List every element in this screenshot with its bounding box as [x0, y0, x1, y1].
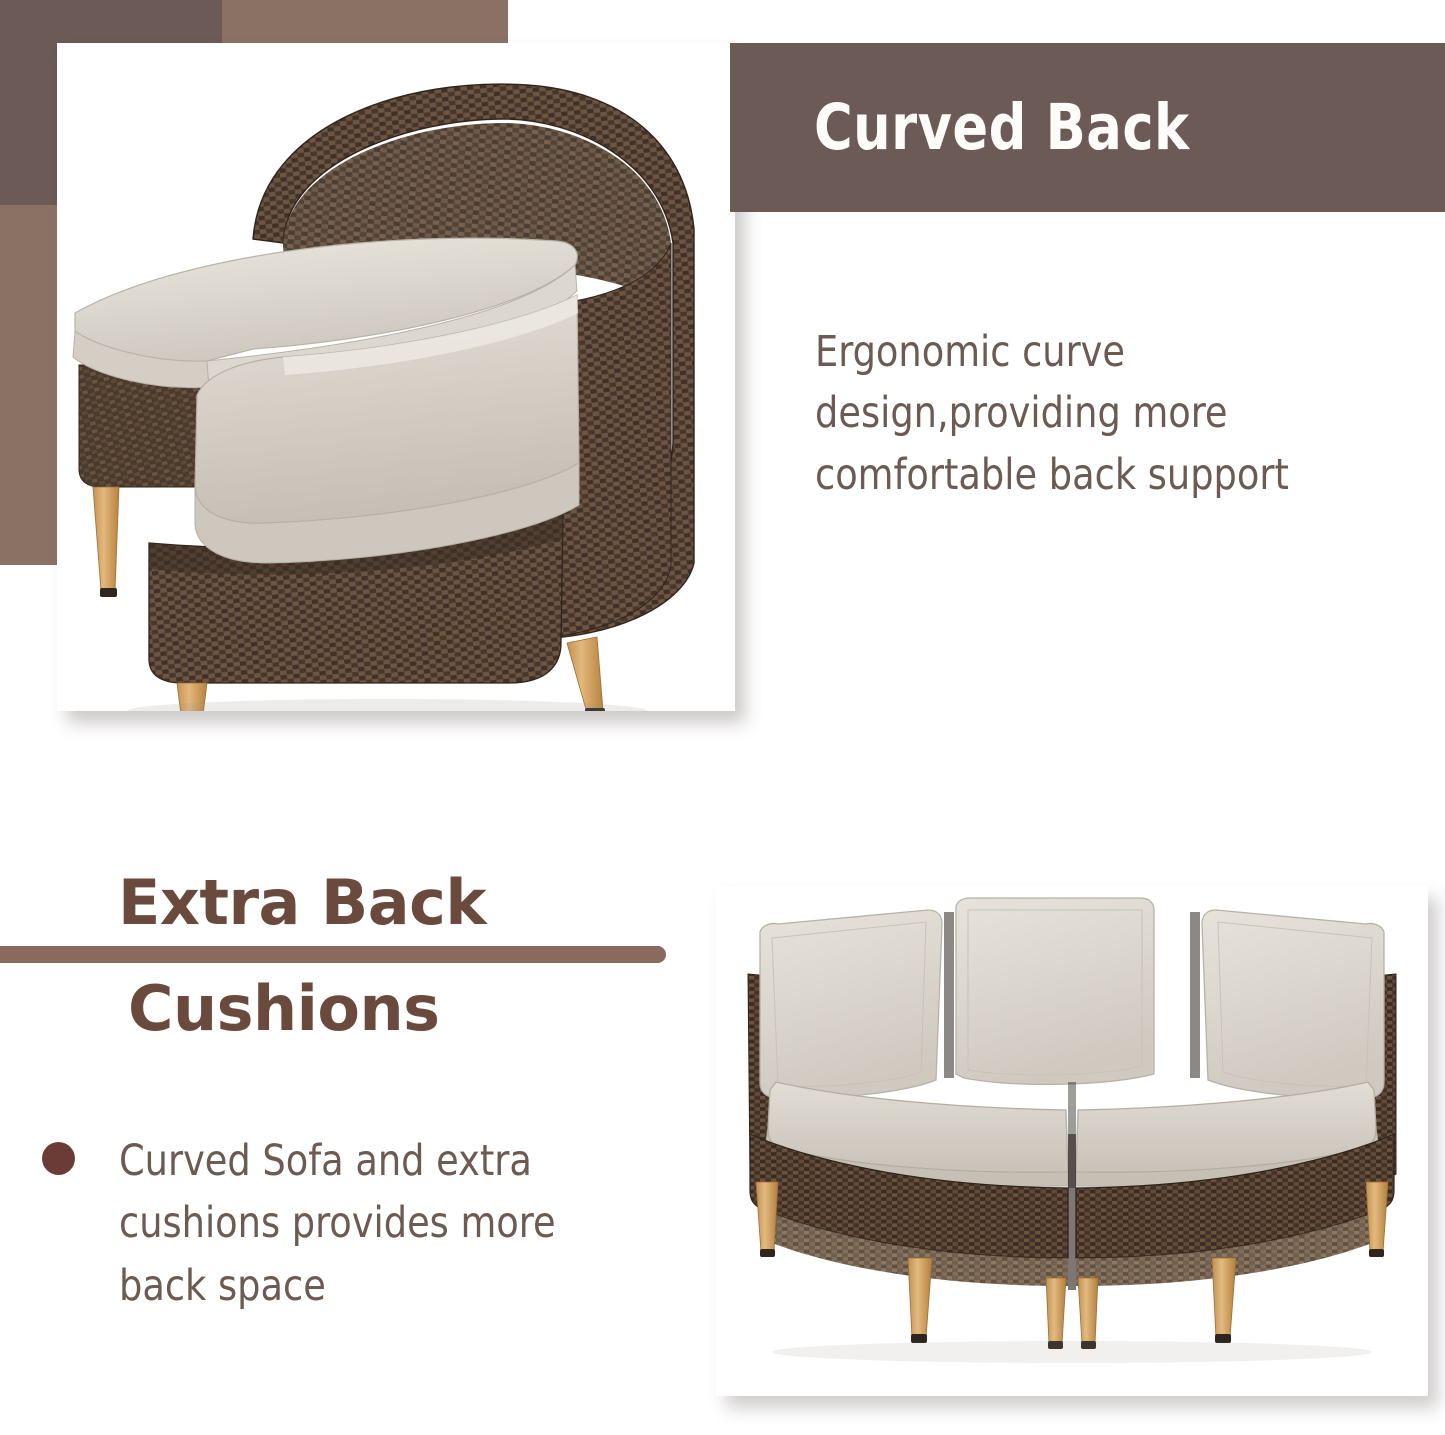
decor-block-top-light — [222, 0, 508, 44]
curved-sofa-illustration — [716, 886, 1428, 1396]
product-photo-corner-chair — [57, 43, 735, 711]
bullet-list-item: Curved Sofa and extra cushions provides … — [42, 1130, 662, 1317]
bullet-text: Curved Sofa and extra cushions provides … — [119, 1130, 635, 1317]
decor-block-left-dark — [0, 0, 60, 205]
section-headline-line1: Extra Back — [118, 866, 486, 939]
feature-description: Ergonomic curve design,providing more co… — [815, 322, 1385, 506]
headline-divider-rule — [0, 946, 666, 963]
corner-chair-illustration — [57, 43, 735, 711]
product-photo-curved-sofa — [716, 886, 1428, 1396]
bullet-dot-icon — [42, 1142, 75, 1175]
section-headline-line2: Cushions — [128, 972, 440, 1045]
curved-back-banner: Curved Back — [730, 43, 1445, 212]
banner-title: Curved Back — [814, 91, 1190, 164]
decor-block-left-light — [0, 205, 60, 565]
